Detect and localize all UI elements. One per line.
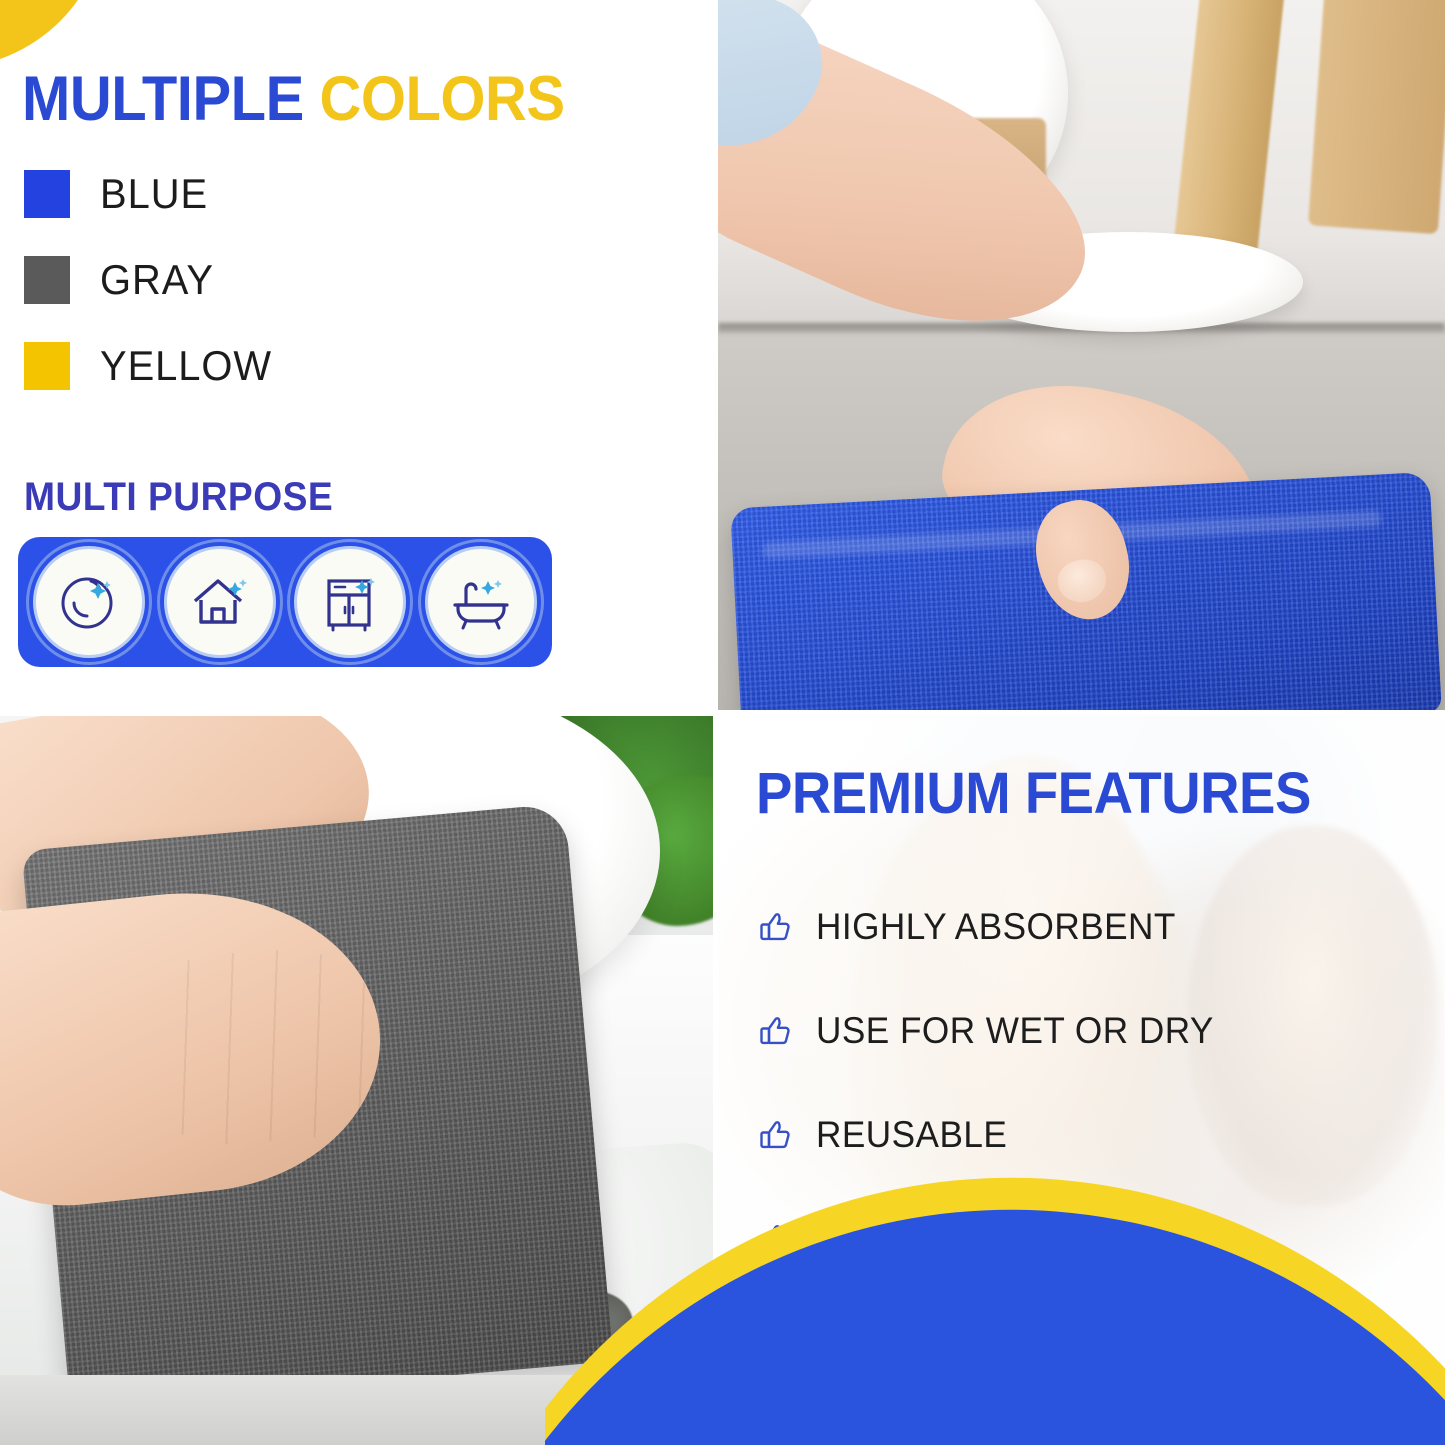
color-row-yellow: YELLOW [24, 340, 281, 392]
multiple-colors-headline: MULTIPLE COLORS [22, 68, 565, 131]
feature-item-value-bundle: VALUE BUNDLE [756, 1218, 1235, 1260]
feature-item-wet-or-dry: USE FOR WET OR DRY [756, 1010, 1235, 1052]
fingers [144, 943, 387, 1149]
thumbs-up-icon [756, 1010, 798, 1052]
color-row-blue: BLUE [24, 168, 281, 220]
color-row-gray: GRAY [24, 254, 281, 306]
features-list: HIGHLY ABSORBENT USE FOR WET OR DRY [756, 906, 1235, 1322]
feature-label: REUSABLE [816, 1114, 1007, 1156]
plate-sparkle-icon [33, 546, 145, 658]
bathtub-sparkle-icon [425, 546, 537, 658]
color-label-blue: BLUE [100, 173, 208, 215]
premium-features-title: PREMIUM FEATURES [756, 760, 1311, 827]
swatch-gray [24, 256, 70, 304]
multi-purpose-title: MULTI PURPOSE [24, 475, 333, 520]
thumbs-up-icon [756, 906, 798, 948]
headline-colors: COLORS [319, 64, 564, 134]
thumbs-up-icon [756, 1218, 798, 1260]
feature-label: VALUE BUNDLE [816, 1218, 1087, 1260]
cutting-board [1308, 0, 1445, 234]
house-sparkle-icon [164, 546, 276, 658]
feature-item-reusable: REUSABLE [756, 1114, 1235, 1156]
headline-multiple: MULTIPLE [22, 64, 304, 134]
counter-front-edge [0, 1375, 713, 1445]
color-label-yellow: YELLOW [100, 345, 272, 387]
swatch-blue [24, 170, 70, 218]
color-label-gray: GRAY [100, 259, 214, 301]
multiple-colors-panel: MULTIPLE COLORS BLUE GRAY YELLOW MULTI P… [0, 0, 713, 710]
gray-cloth-sink-photo [0, 716, 713, 1445]
photo-canvas [0, 716, 713, 1445]
feature-label: HIGHLY ABSORBENT [816, 906, 1176, 948]
product-infographic: MULTIPLE COLORS BLUE GRAY YELLOW MULTI P… [0, 0, 1445, 1445]
premium-features-panel: PREMIUM FEATURES HIGHLY ABSORBENT [718, 716, 1445, 1445]
color-swatch-list: BLUE GRAY YELLOW [24, 168, 281, 426]
feature-label: USE FOR WET OR DRY [816, 1010, 1214, 1052]
multi-purpose-icon-bar [18, 537, 552, 667]
thumbs-up-icon [756, 1114, 798, 1156]
swatch-yellow [24, 342, 70, 390]
blue-cloth-kitchen-photo [718, 0, 1445, 710]
cabinet-sparkle-icon [294, 546, 406, 658]
feature-item-highly-absorbent: HIGHLY ABSORBENT [756, 906, 1235, 948]
photo-canvas [718, 0, 1445, 710]
